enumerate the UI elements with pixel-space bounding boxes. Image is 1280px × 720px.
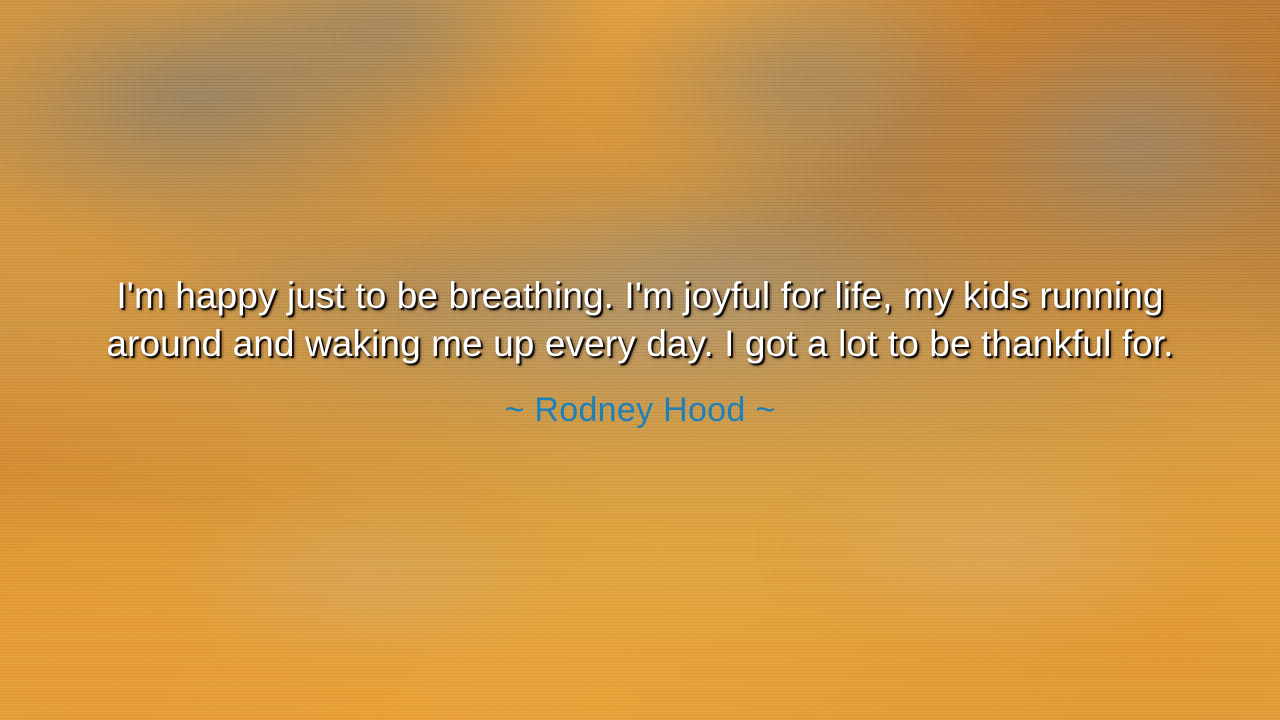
quote-text: I'm happy just to be breathing. I'm joyf… — [80, 272, 1200, 368]
quote-wallpaper: I'm happy just to be breathing. I'm joyf… — [0, 0, 1280, 720]
quote-block: I'm happy just to be breathing. I'm joyf… — [0, 272, 1280, 431]
quote-author: ~ Rodney Hood ~ — [0, 389, 1280, 431]
